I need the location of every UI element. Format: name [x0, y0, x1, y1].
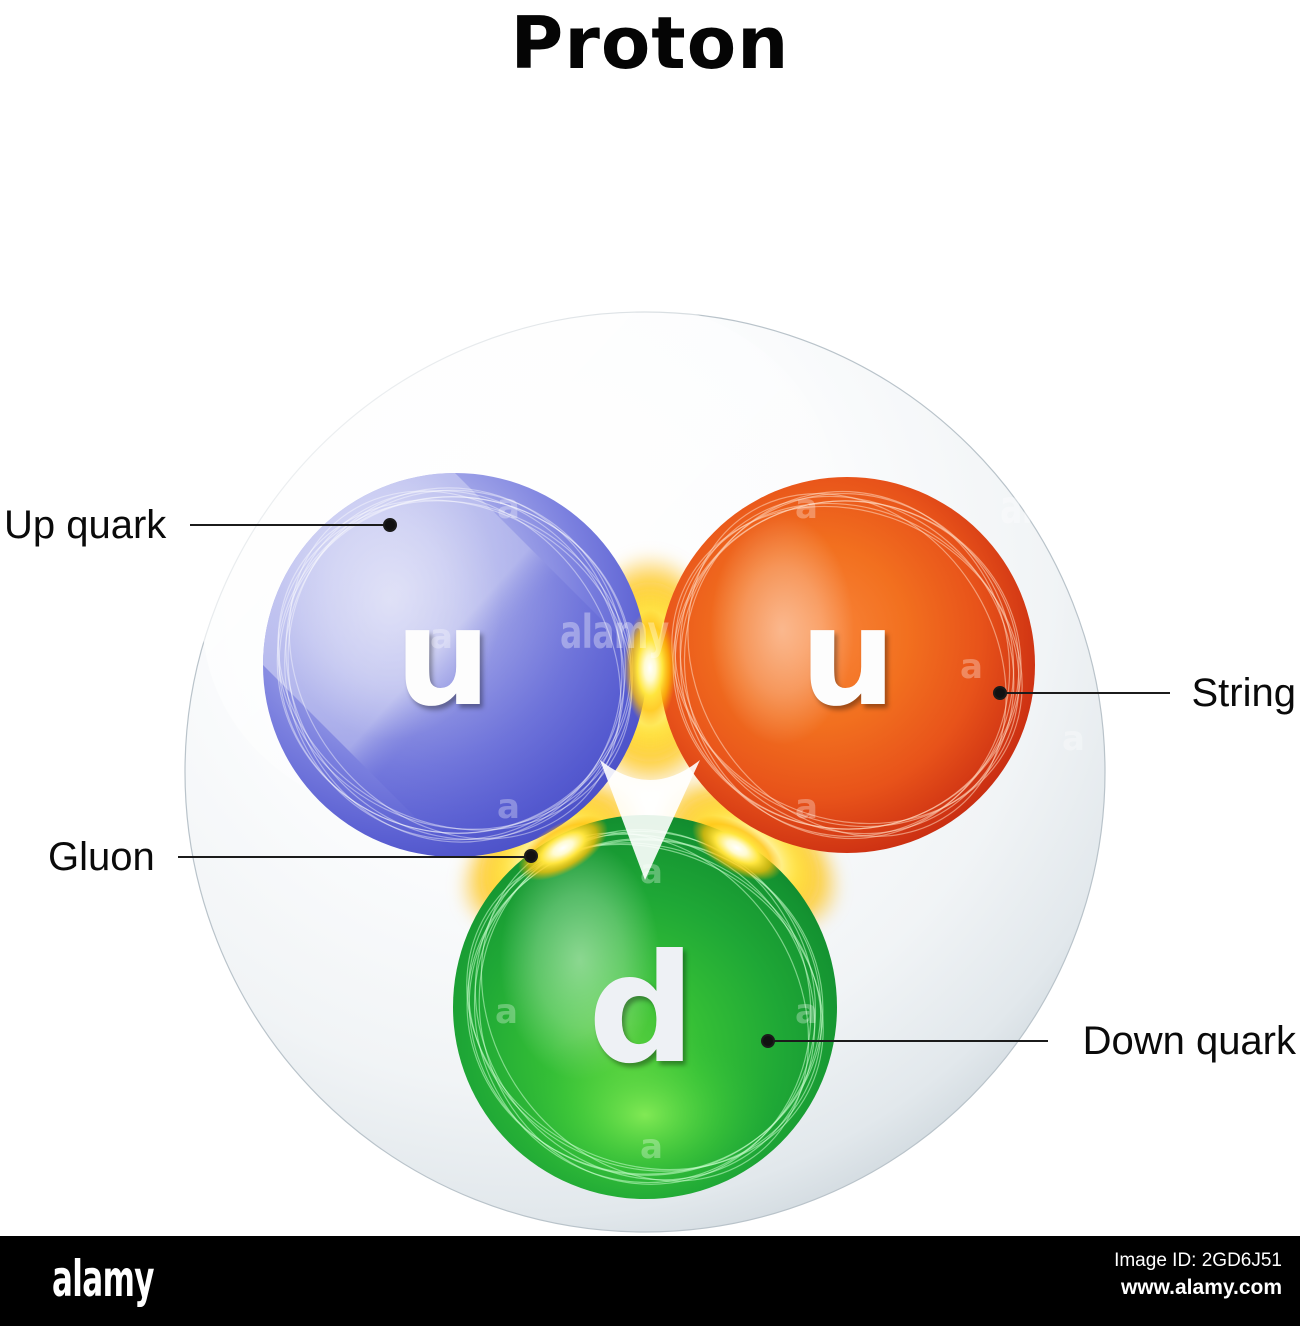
alamy-footer-bar: alamy Image ID: 2GD6J51 www.alamy.com [0, 1236, 1300, 1326]
quark-letter-d: d [588, 935, 695, 1085]
leader-dot-down-quark [762, 1035, 774, 1047]
gluon-core-top [624, 610, 676, 726]
leader-dot-gluon [525, 850, 537, 862]
alamy-logo: alamy [52, 1250, 154, 1308]
label-down-quark: Down quark [1083, 1019, 1296, 1063]
quark-letter-u-right: u [800, 590, 896, 725]
proton-illustration [0, 0, 1300, 1326]
label-string: String [1192, 671, 1297, 715]
quark-letter-u-left: u [395, 590, 491, 725]
label-gluon: Gluon [48, 835, 155, 879]
label-up-quark: Up quark [4, 503, 166, 547]
leader-dot-string [994, 687, 1006, 699]
image-id-text: Image ID: 2GD6J51 [1114, 1248, 1282, 1274]
leader-dot-up-quark [384, 519, 396, 531]
diagram-canvas: Proton [0, 0, 1300, 1326]
alamy-website-link[interactable]: www.alamy.com [1114, 1274, 1282, 1302]
footer-meta: Image ID: 2GD6J51 www.alamy.com [1114, 1248, 1282, 1302]
